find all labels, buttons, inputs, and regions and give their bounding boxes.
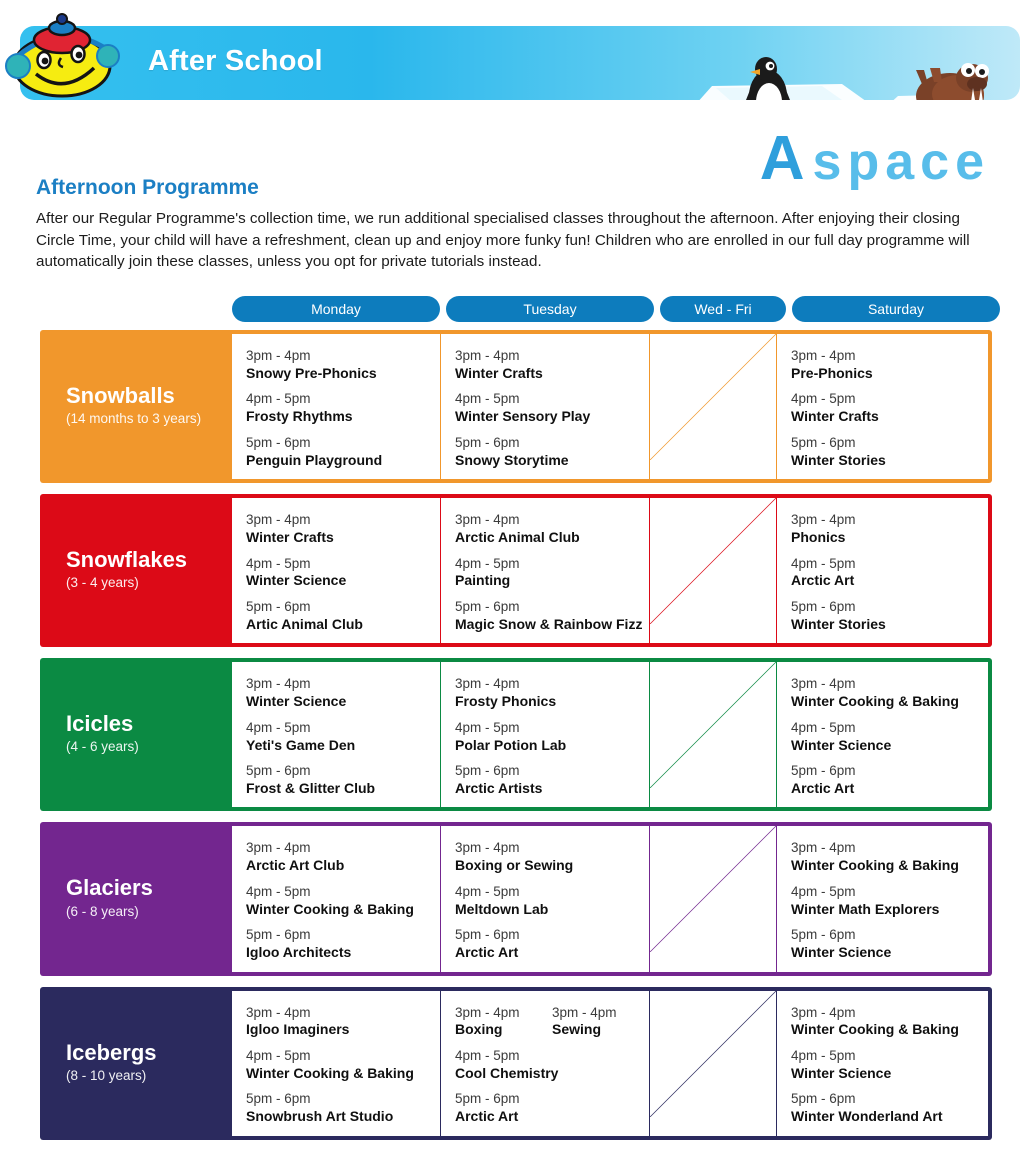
group-label: Icebergs(8 - 10 years) — [44, 991, 232, 1136]
intro-paragraph: After our Regular Programme's collection… — [36, 208, 998, 273]
slot-class: Winter Stories — [791, 452, 988, 470]
time-slot: 4pm - 5pmWinter Crafts — [791, 391, 988, 425]
slot-time: 3pm - 4pm — [246, 348, 440, 365]
time-slot: 5pm - 6pmArtic Animal Club — [246, 599, 440, 633]
slot-class: Penguin Playground — [246, 452, 440, 470]
cell-snowflakes-tuesday[interactable]: 3pm - 4pmArctic Animal Club4pm - 5pmPain… — [441, 498, 649, 643]
slot-class: Arctic Art — [791, 780, 988, 798]
closed-diagonal-icon — [650, 662, 776, 788]
schedule-table: Monday Tuesday Wed - Fri Saturday Snowba… — [40, 296, 992, 1151]
slot-class: Snowy Storytime — [455, 452, 649, 470]
group-name: Snowballs — [66, 384, 232, 408]
slot-class: Winter Wonderland Art — [791, 1108, 988, 1126]
cell-snowballs-monday[interactable]: 3pm - 4pmSnowy Pre-Phonics4pm - 5pmFrost… — [232, 334, 440, 479]
penguin-walrus-iceberg-icon — [672, 26, 1012, 100]
cell-icebergs-wedfri[interactable] — [650, 991, 776, 1136]
slot-class: Arctic Artists — [455, 780, 649, 798]
slot-class: Frosty Phonics — [455, 693, 649, 711]
cell-icicles-tuesday[interactable]: 3pm - 4pmFrosty Phonics4pm - 5pmPolar Po… — [441, 662, 649, 807]
group-name: Glaciers — [66, 876, 232, 900]
group-name: Icebergs — [66, 1041, 232, 1065]
schedule-band-icebergs: Icebergs(8 - 10 years)3pm - 4pmIgloo Ima… — [40, 987, 992, 1140]
slot-time: 5pm - 6pm — [791, 435, 988, 452]
slot-class: Arctic Art Club — [246, 857, 440, 875]
slot-class: Boxing — [455, 1021, 552, 1039]
slot-time: 3pm - 4pm — [455, 348, 649, 365]
schedule-band-snowballs: Snowballs(14 months to 3 years)3pm - 4pm… — [40, 330, 992, 483]
group-day-cells: 3pm - 4pmArctic Art Club4pm - 5pmWinter … — [232, 826, 988, 971]
time-slot: 4pm - 5pmWinter Math Explorers — [791, 884, 988, 918]
slot-time: 3pm - 4pm — [791, 512, 988, 529]
time-slot: 3pm - 4pmWinter Cooking & Baking — [791, 1005, 988, 1039]
slot-class: Igloo Architects — [246, 944, 440, 962]
slot-class: Igloo Imaginers — [246, 1021, 440, 1039]
slot-time: 5pm - 6pm — [246, 435, 440, 452]
time-slot: 3pm - 4pmArctic Art Club — [246, 840, 440, 874]
time-slot: 3pm - 4pmIgloo Imaginers — [246, 1005, 440, 1039]
schedule-band-glaciers: Glaciers(6 - 8 years)3pm - 4pmArctic Art… — [40, 822, 992, 975]
slot-class: Winter Cooking & Baking — [791, 693, 988, 711]
slot-time: 5pm - 6pm — [246, 1091, 440, 1108]
slot-class: Phonics — [791, 529, 988, 547]
slot-part-a: 3pm - 4pmBoxing — [455, 1005, 552, 1039]
time-slot: 4pm - 5pmFrosty Rhythms — [246, 391, 440, 425]
group-day-cells: 3pm - 4pmSnowy Pre-Phonics4pm - 5pmFrost… — [232, 334, 988, 479]
time-slot: 5pm - 6pmPenguin Playground — [246, 435, 440, 469]
group-name: Snowflakes — [66, 548, 232, 572]
cell-icicles-saturday[interactable]: 3pm - 4pmWinter Cooking & Baking4pm - 5p… — [777, 662, 988, 807]
time-slot: 3pm - 4pmBoxing3pm - 4pmSewing — [455, 1005, 649, 1039]
slot-time: 4pm - 5pm — [246, 1048, 440, 1065]
cell-snowballs-wedfri[interactable] — [650, 334, 776, 479]
slot-time: 3pm - 4pm — [246, 840, 440, 857]
time-slot: 4pm - 5pmWinter Cooking & Baking — [246, 884, 440, 918]
slot-time: 5pm - 6pm — [246, 927, 440, 944]
slot-class: Polar Potion Lab — [455, 737, 649, 755]
cell-icebergs-monday[interactable]: 3pm - 4pmIgloo Imaginers4pm - 5pmWinter … — [232, 991, 440, 1136]
slot-time: 3pm - 4pm — [455, 1005, 552, 1022]
group-age-range: (14 months to 3 years) — [66, 410, 232, 429]
day-header-wed-fri: Wed - Fri — [660, 296, 786, 322]
time-slot: 3pm - 4pmWinter Crafts — [455, 348, 649, 382]
time-slot: 4pm - 5pmWinter Science — [246, 556, 440, 590]
time-slot: 5pm - 6pmWinter Stories — [791, 599, 988, 633]
slot-time: 4pm - 5pm — [455, 391, 649, 408]
slot-time: 4pm - 5pm — [455, 1048, 649, 1065]
slot-class: Snowbrush Art Studio — [246, 1108, 440, 1126]
group-label: Icicles(4 - 6 years) — [44, 662, 232, 807]
day-header-monday: Monday — [232, 296, 440, 322]
slot-class: Winter Science — [791, 1065, 988, 1083]
group-label: Snowballs(14 months to 3 years) — [44, 334, 232, 479]
day-header-row: Monday Tuesday Wed - Fri Saturday — [40, 296, 992, 322]
slot-time: 4pm - 5pm — [791, 391, 988, 408]
time-slot: 3pm - 4pmBoxing or Sewing — [455, 840, 649, 874]
slot-class: Frost & Glitter Club — [246, 780, 440, 798]
time-slot: 4pm - 5pmMeltdown Lab — [455, 884, 649, 918]
cell-snowflakes-wedfri[interactable] — [650, 498, 776, 643]
slot-class: Meltdown Lab — [455, 901, 649, 919]
cell-glaciers-wedfri[interactable] — [650, 826, 776, 971]
closed-diagonal-icon — [650, 498, 776, 624]
slot-time: 3pm - 4pm — [455, 840, 649, 857]
slot-class: Winter Cooking & Baking — [246, 1065, 440, 1083]
slot-time: 5pm - 6pm — [791, 763, 988, 780]
time-slot: 5pm - 6pmWinter Wonderland Art — [791, 1091, 988, 1125]
closed-diagonal-icon — [650, 334, 776, 460]
slot-class: Arctic Animal Club — [455, 529, 649, 547]
time-slot: 4pm - 5pmWinter Science — [791, 1048, 988, 1082]
day-header-saturday: Saturday — [792, 296, 1000, 322]
slot-class: Cool Chemistry — [455, 1065, 649, 1083]
slot-class: Winter Science — [246, 693, 440, 711]
slot-time: 3pm - 4pm — [791, 840, 988, 857]
time-slot: 3pm - 4pmFrosty Phonics — [455, 676, 649, 710]
slot-time: 5pm - 6pm — [246, 763, 440, 780]
slot-time: 5pm - 6pm — [455, 435, 649, 452]
slot-time: 3pm - 4pm — [246, 676, 440, 693]
time-slot: 3pm - 4pmPre-Phonics — [791, 348, 988, 382]
time-slot: 5pm - 6pmMagic Snow & Rainbow Fizz — [455, 599, 649, 633]
aspace-logo-capital: A — [760, 124, 813, 193]
group-age-range: (3 - 4 years) — [66, 574, 232, 593]
slot-time: 4pm - 5pm — [246, 556, 440, 573]
slot-time: 4pm - 5pm — [791, 556, 988, 573]
group-age-range: (6 - 8 years) — [66, 903, 232, 922]
slot-class: Yeti's Game Den — [246, 737, 440, 755]
group-label: Glaciers(6 - 8 years) — [44, 826, 232, 971]
slot-time: 5pm - 6pm — [791, 927, 988, 944]
slot-time: 3pm - 4pm — [791, 348, 988, 365]
time-slot: 4pm - 5pmPainting — [455, 556, 649, 590]
slot-class: Arctic Art — [791, 572, 988, 590]
slot-class: Arctic Art — [455, 1108, 649, 1126]
time-slot: 3pm - 4pmPhonics — [791, 512, 988, 546]
closed-diagonal-icon — [650, 826, 776, 952]
time-slot: 3pm - 4pmWinter Cooking & Baking — [791, 840, 988, 874]
slot-time: 3pm - 4pm — [791, 676, 988, 693]
header-banner: After School — [20, 26, 1020, 100]
aspace-logo: Aspace — [760, 128, 990, 190]
time-slot: 3pm - 4pmWinter Cooking & Baking — [791, 676, 988, 710]
group-age-range: (8 - 10 years) — [66, 1067, 232, 1086]
time-slot: 5pm - 6pmIgloo Architects — [246, 927, 440, 961]
page-header: After School — [0, 0, 1032, 120]
slot-time: 4pm - 5pm — [791, 720, 988, 737]
time-slot: 3pm - 4pmWinter Science — [246, 676, 440, 710]
aspace-logo-rest: space — [813, 133, 990, 191]
time-slot: 5pm - 6pmSnowy Storytime — [455, 435, 649, 469]
slot-time: 3pm - 4pm — [455, 512, 649, 529]
cell-glaciers-monday[interactable]: 3pm - 4pmArctic Art Club4pm - 5pmWinter … — [232, 826, 440, 971]
slot-class: Winter Crafts — [246, 529, 440, 547]
time-slot: 5pm - 6pmArctic Artists — [455, 763, 649, 797]
slot-time: 4pm - 5pm — [246, 720, 440, 737]
slot-time: 5pm - 6pm — [455, 763, 649, 780]
group-day-cells: 3pm - 4pmWinter Science4pm - 5pmYeti's G… — [232, 662, 988, 807]
cell-icebergs-tuesday[interactable]: 3pm - 4pmBoxing3pm - 4pmSewing4pm - 5pmC… — [441, 991, 649, 1136]
slot-part-b: 3pm - 4pmSewing — [552, 1005, 649, 1039]
slot-class: Winter Cooking & Baking — [246, 901, 440, 919]
banner-title: After School — [148, 45, 323, 78]
slot-class: Magic Snow & Rainbow Fizz — [455, 616, 649, 634]
cell-snowflakes-monday[interactable]: 3pm - 4pmWinter Crafts4pm - 5pmWinter Sc… — [232, 498, 440, 643]
smiley-mascot-icon — [4, 4, 124, 104]
time-slot: 4pm - 5pmWinter Sensory Play — [455, 391, 649, 425]
day-header-tuesday: Tuesday — [446, 296, 654, 322]
slot-time: 5pm - 6pm — [791, 599, 988, 616]
slot-class: Winter Sensory Play — [455, 408, 649, 426]
time-slot: 4pm - 5pmWinter Science — [791, 720, 988, 754]
slot-class: Winter Cooking & Baking — [791, 857, 988, 875]
time-slot: 4pm - 5pmPolar Potion Lab — [455, 720, 649, 754]
slot-class: Winter Crafts — [455, 365, 649, 383]
slot-class: Winter Science — [246, 572, 440, 590]
schedule-band-snowflakes: Snowflakes(3 - 4 years)3pm - 4pmWinter C… — [40, 494, 992, 647]
group-day-cells: 3pm - 4pmIgloo Imaginers4pm - 5pmWinter … — [232, 991, 988, 1136]
slot-time: 5pm - 6pm — [246, 599, 440, 616]
slot-class: Pre-Phonics — [791, 365, 988, 383]
time-slot: 5pm - 6pmArctic Art — [791, 763, 988, 797]
slot-class: Boxing or Sewing — [455, 857, 649, 875]
slot-time: 5pm - 6pm — [791, 1091, 988, 1108]
time-slot: 5pm - 6pmSnowbrush Art Studio — [246, 1091, 440, 1125]
page-title: Afternoon Programme — [36, 176, 259, 200]
day-header-spacer — [40, 296, 232, 322]
group-day-cells: 3pm - 4pmWinter Crafts4pm - 5pmWinter Sc… — [232, 498, 988, 643]
slot-time: 4pm - 5pm — [246, 391, 440, 408]
group-label: Snowflakes(3 - 4 years) — [44, 498, 232, 643]
time-slot: 3pm - 4pmArctic Animal Club — [455, 512, 649, 546]
slot-class: Winter Science — [791, 944, 988, 962]
slot-time: 5pm - 6pm — [455, 1091, 649, 1108]
slot-time: 4pm - 5pm — [791, 884, 988, 901]
slot-class: Artic Animal Club — [246, 616, 440, 634]
slot-class: Frosty Rhythms — [246, 408, 440, 426]
closed-diagonal-icon — [650, 991, 776, 1117]
slot-time: 4pm - 5pm — [455, 556, 649, 573]
slot-time: 3pm - 4pm — [455, 676, 649, 693]
group-age-range: (4 - 6 years) — [66, 738, 232, 757]
slot-time: 5pm - 6pm — [455, 927, 649, 944]
cell-icicles-monday[interactable]: 3pm - 4pmWinter Science4pm - 5pmYeti's G… — [232, 662, 440, 807]
time-slot: 4pm - 5pmWinter Cooking & Baking — [246, 1048, 440, 1082]
time-slot: 5pm - 6pmWinter Stories — [791, 435, 988, 469]
cell-icebergs-saturday[interactable]: 3pm - 4pmWinter Cooking & Baking4pm - 5p… — [777, 991, 988, 1136]
slot-class: Painting — [455, 572, 649, 590]
slot-time: 3pm - 4pm — [246, 1005, 440, 1022]
slot-class: Winter Crafts — [791, 408, 988, 426]
cell-snowballs-saturday[interactable]: 3pm - 4pmPre-Phonics4pm - 5pmWinter Craf… — [777, 334, 988, 479]
cell-glaciers-tuesday[interactable]: 3pm - 4pmBoxing or Sewing4pm - 5pmMeltdo… — [441, 826, 649, 971]
slot-time: 3pm - 4pm — [791, 1005, 988, 1022]
group-name: Icicles — [66, 712, 232, 736]
slot-class: Winter Math Explorers — [791, 901, 988, 919]
slot-time: 4pm - 5pm — [455, 720, 649, 737]
cell-snowballs-tuesday[interactable]: 3pm - 4pmWinter Crafts4pm - 5pmWinter Se… — [441, 334, 649, 479]
time-slot: 4pm - 5pmYeti's Game Den — [246, 720, 440, 754]
time-slot: 4pm - 5pmArctic Art — [791, 556, 988, 590]
cell-glaciers-saturday[interactable]: 3pm - 4pmWinter Cooking & Baking4pm - 5p… — [777, 826, 988, 971]
time-slot: 5pm - 6pmArctic Art — [455, 1091, 649, 1125]
schedule-band-list: Snowballs(14 months to 3 years)3pm - 4pm… — [40, 330, 992, 1140]
time-slot: 5pm - 6pm Frost & Glitter Club — [246, 763, 440, 797]
time-slot: 3pm - 4pmSnowy Pre-Phonics — [246, 348, 440, 382]
slot-time: 5pm - 6pm — [455, 599, 649, 616]
time-slot: 4pm - 5pmCool Chemistry — [455, 1048, 649, 1082]
time-slot: 3pm - 4pmWinter Crafts — [246, 512, 440, 546]
slot-class: Arctic Art — [455, 944, 649, 962]
slot-class-alt: Sewing — [552, 1021, 649, 1039]
slot-time: 3pm - 4pm — [246, 512, 440, 529]
cell-icicles-wedfri[interactable] — [650, 662, 776, 807]
schedule-band-icicles: Icicles(4 - 6 years)3pm - 4pmWinter Scie… — [40, 658, 992, 811]
slot-class: Winter Stories — [791, 616, 988, 634]
slot-class: Snowy Pre-Phonics — [246, 365, 440, 383]
slot-time: 4pm - 5pm — [791, 1048, 988, 1065]
slot-class: Winter Science — [791, 737, 988, 755]
time-slot: 5pm - 6pmWinter Science — [791, 927, 988, 961]
slot-time-alt: 3pm - 4pm — [552, 1005, 649, 1022]
slot-time: 4pm - 5pm — [246, 884, 440, 901]
slot-time: 4pm - 5pm — [455, 884, 649, 901]
time-slot: 5pm - 6pmArctic Art — [455, 927, 649, 961]
slot-class: Winter Cooking & Baking — [791, 1021, 988, 1039]
cell-snowflakes-saturday[interactable]: 3pm - 4pmPhonics4pm - 5pmArctic Art5pm -… — [777, 498, 988, 643]
